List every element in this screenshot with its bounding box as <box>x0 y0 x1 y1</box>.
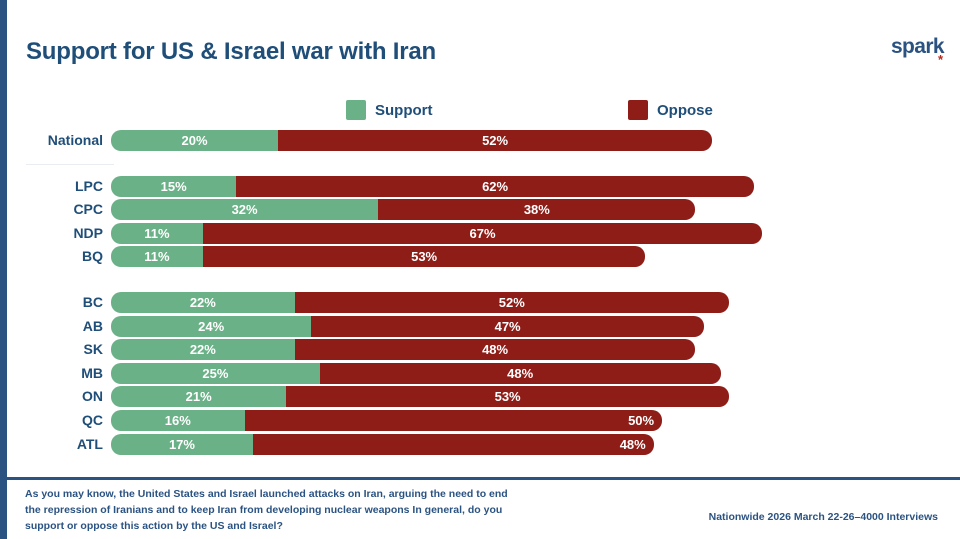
row-label-lpc: LPC <box>0 176 103 197</box>
row-label-ndp: NDP <box>0 223 103 244</box>
stacked-bar-chart: National20%52%LPC15%62%CPC32%38%NDP11%67… <box>0 0 960 470</box>
bar-value-support: 25% <box>111 363 320 384</box>
chart-row: BC22%52% <box>0 292 960 313</box>
row-label-bc: BC <box>0 292 103 313</box>
bar-value-support: 22% <box>111 339 295 360</box>
bar-segment-oppose: 47% <box>311 316 703 337</box>
bar-segment-support: 24% <box>111 316 311 337</box>
bar-segment-oppose: 52% <box>295 292 729 313</box>
chart-row: SK22%48% <box>0 339 960 360</box>
row-bars: 15%62% <box>111 176 754 197</box>
bar-value-support: 16% <box>111 410 245 431</box>
bar-value-oppose: 48% <box>295 339 696 360</box>
bar-segment-oppose: 62% <box>236 176 754 197</box>
row-label-qc: QC <box>0 410 103 431</box>
bar-segment-oppose: 48% <box>320 363 721 384</box>
bar-value-support: 17% <box>111 434 253 455</box>
bar-segment-oppose: 48% <box>295 339 696 360</box>
bar-segment-oppose: 52% <box>278 130 712 151</box>
chart-row: QC16%50% <box>0 410 960 431</box>
bar-value-oppose: 50% <box>245 410 663 431</box>
bar-segment-support: 11% <box>111 246 203 267</box>
chart-row: MB25%48% <box>0 363 960 384</box>
row-bars: 17%48% <box>111 434 654 455</box>
chart-row: CPC32%38% <box>0 199 960 220</box>
bar-value-support: 24% <box>111 316 311 337</box>
row-bars: 25%48% <box>111 363 721 384</box>
bar-segment-oppose: 67% <box>203 223 762 244</box>
bar-value-oppose: 67% <box>203 223 762 244</box>
bar-segment-support: 17% <box>111 434 253 455</box>
bar-value-support: 32% <box>111 199 378 220</box>
row-bars: 11%53% <box>111 246 645 267</box>
bar-value-support: 11% <box>111 223 203 244</box>
row-label-atl: ATL <box>0 434 103 455</box>
row-label-cpc: CPC <box>0 199 103 220</box>
bar-value-support: 20% <box>111 130 278 151</box>
bar-segment-oppose: 50% <box>245 410 663 431</box>
bar-segment-support: 11% <box>111 223 203 244</box>
slide-canvas: Support for US & Israel war with Iran sp… <box>0 0 960 539</box>
bar-value-oppose: 47% <box>311 316 703 337</box>
bar-segment-support: 32% <box>111 199 378 220</box>
bar-value-oppose: 53% <box>203 246 646 267</box>
bar-segment-support: 21% <box>111 386 286 407</box>
row-label-national: National <box>0 130 103 151</box>
row-label-sk: SK <box>0 339 103 360</box>
row-bars: 21%53% <box>111 386 729 407</box>
row-label-bq: BQ <box>0 246 103 267</box>
bar-segment-support: 22% <box>111 292 295 313</box>
bar-segment-oppose: 48% <box>253 434 654 455</box>
bar-segment-support: 16% <box>111 410 245 431</box>
bar-value-support: 21% <box>111 386 286 407</box>
bar-segment-oppose: 53% <box>286 386 729 407</box>
row-label-ab: AB <box>0 316 103 337</box>
chart-row: AB24%47% <box>0 316 960 337</box>
bar-segment-support: 20% <box>111 130 278 151</box>
row-label-on: ON <box>0 386 103 407</box>
survey-source: Nationwide 2026 March 22-26–4000 Intervi… <box>709 511 938 523</box>
survey-question: As you may know, the United States and I… <box>25 487 525 535</box>
chart-row: NDP11%67% <box>0 223 960 244</box>
row-label-mb: MB <box>0 363 103 384</box>
row-bars: 11%67% <box>111 223 762 244</box>
row-bars: 16%50% <box>111 410 662 431</box>
bar-value-oppose: 62% <box>236 176 754 197</box>
row-bars: 32%38% <box>111 199 696 220</box>
chart-row: BQ11%53% <box>0 246 960 267</box>
row-bars: 22%48% <box>111 339 696 360</box>
footer-divider <box>0 477 960 480</box>
row-bars: 22%52% <box>111 292 729 313</box>
row-bars: 24%47% <box>111 316 704 337</box>
bar-value-oppose: 48% <box>320 363 721 384</box>
bar-value-support: 11% <box>111 246 203 267</box>
bar-segment-support: 22% <box>111 339 295 360</box>
bar-value-oppose: 38% <box>378 199 695 220</box>
bar-value-support: 22% <box>111 292 295 313</box>
bar-value-support: 15% <box>111 176 236 197</box>
bar-value-oppose: 53% <box>286 386 729 407</box>
row-bars: 20%52% <box>111 130 712 151</box>
bar-segment-oppose: 38% <box>378 199 695 220</box>
chart-row: ON21%53% <box>0 386 960 407</box>
bar-value-oppose: 48% <box>253 434 654 455</box>
bar-segment-support: 15% <box>111 176 236 197</box>
bar-value-oppose: 52% <box>278 130 712 151</box>
bar-segment-support: 25% <box>111 363 320 384</box>
chart-row: LPC15%62% <box>0 176 960 197</box>
chart-row: ATL17%48% <box>0 434 960 455</box>
chart-row: National20%52% <box>0 130 960 151</box>
bar-segment-oppose: 53% <box>203 246 646 267</box>
bar-value-oppose: 52% <box>295 292 729 313</box>
